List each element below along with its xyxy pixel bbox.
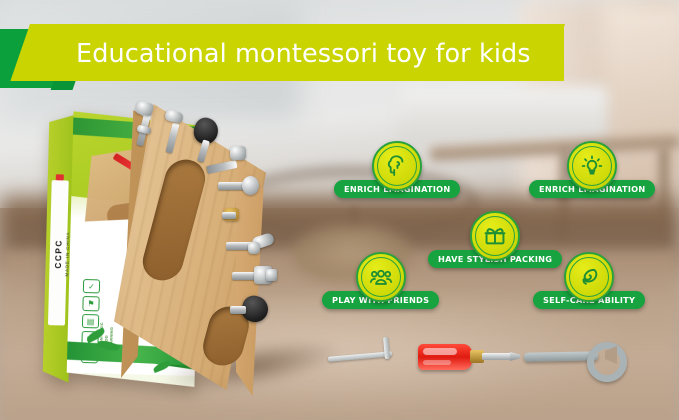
header-banner: Educational montessori toy for kids bbox=[0, 0, 679, 96]
hex-allen-key-icon[interactable] bbox=[328, 351, 392, 362]
origin-text: MADE IN CHINA bbox=[64, 231, 70, 276]
feature-badge-stylish-packing[interactable]: HAVE STYLISH PACKING bbox=[428, 211, 562, 268]
feature-badge-enrich-imagination-brain[interactable]: ENRICH LMAGINATION bbox=[334, 141, 460, 198]
wooden-montessori-board bbox=[96, 96, 328, 396]
gift-box-icon bbox=[470, 211, 520, 261]
screwdriver-shaft bbox=[482, 353, 514, 360]
people-group-icon bbox=[356, 252, 406, 302]
tool-set bbox=[322, 330, 622, 400]
hex-allen-key-arm[interactable] bbox=[383, 337, 390, 359]
screwdriver-tip bbox=[510, 352, 520, 361]
feature-badge-enrich-imagination-bulb[interactable]: ENRICH LMAGINATION bbox=[529, 141, 655, 198]
lightbulb-icon bbox=[567, 141, 617, 191]
flexed-arm-icon bbox=[564, 252, 614, 302]
advertisement-banner: Educational montessori toy for kids CCPC… bbox=[0, 0, 679, 420]
wrench-head[interactable] bbox=[587, 342, 627, 382]
screwdriver-handle-highlight bbox=[423, 360, 451, 365]
brain-head-icon bbox=[372, 141, 422, 191]
box-certification-mark-icon bbox=[56, 174, 64, 180]
screwdriver-handle-highlight bbox=[423, 348, 457, 355]
feature-badge-play-with-friends[interactable]: PLAY WITH FRIENDS bbox=[322, 252, 439, 309]
page-title: Educational montessori toy for kids bbox=[76, 30, 556, 78]
